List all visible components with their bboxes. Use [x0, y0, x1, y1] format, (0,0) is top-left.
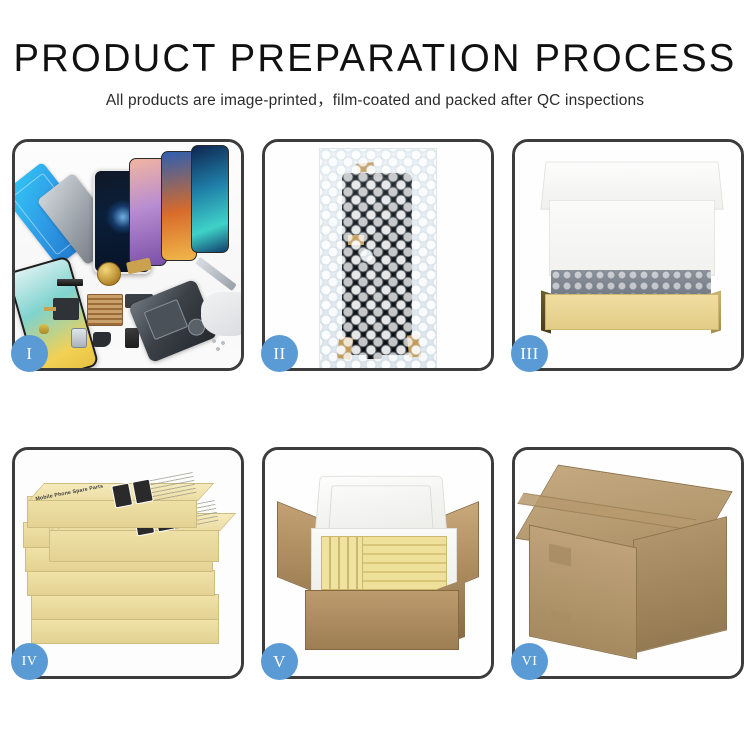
retail-box-printed-1	[27, 496, 197, 528]
screws-group	[211, 338, 233, 352]
inner-box-front	[545, 294, 719, 330]
speaker-module	[97, 262, 121, 286]
step-badge-5: V	[261, 643, 298, 680]
step-3-image	[515, 142, 741, 368]
step-1-image	[15, 142, 241, 368]
step-6-image	[515, 450, 741, 676]
box-thumb-image	[111, 482, 133, 508]
technician-hand	[201, 292, 241, 336]
small-part-a	[39, 324, 49, 334]
chip-array	[87, 294, 123, 326]
battery-module	[125, 328, 139, 348]
tweezers-icon	[195, 257, 237, 291]
page-subtitle: All products are image-printed，film-coat…	[0, 91, 750, 110]
flex-cable-a	[53, 298, 79, 320]
white-foam-sheet	[549, 200, 715, 276]
carton-front-face	[305, 590, 459, 650]
phone-display-teal	[191, 145, 229, 253]
earpiece-module	[93, 332, 111, 347]
carton-front-face	[529, 525, 637, 660]
process-step-6: VI	[512, 447, 744, 679]
connector-strip	[57, 279, 83, 286]
process-step-4: Mobile Phone Spare Parts Mobile Phone Sp…	[12, 447, 244, 679]
step-badge-4: IV	[11, 643, 48, 680]
packed-yellow-boxes-side	[321, 536, 363, 590]
step-badge-1: I	[11, 335, 48, 372]
camera-module	[71, 328, 87, 348]
retail-box-bottom-1	[31, 618, 219, 644]
header: PRODUCT PREPARATION PROCESS All products…	[0, 0, 750, 110]
process-step-5: V	[262, 447, 494, 679]
step-badge-2: II	[261, 335, 298, 372]
step-badge-6: VI	[511, 643, 548, 680]
step-5-image	[265, 450, 491, 676]
box-stack: Mobile Phone Spare Parts Mobile Phone Sp…	[23, 468, 239, 668]
bubble-texture	[320, 149, 436, 368]
page-title: PRODUCT PREPARATION PROCESS	[8, 38, 743, 80]
step-4-image: Mobile Phone Spare Parts Mobile Phone Sp…	[15, 450, 241, 676]
retail-box-bottom-3	[27, 570, 215, 596]
bubble-bag	[319, 148, 437, 368]
process-step-1: I	[12, 139, 244, 371]
step-2-image	[265, 142, 491, 368]
retail-box-bottom-2	[31, 594, 219, 620]
process-step-grid: I II	[12, 139, 738, 679]
process-step-2: II	[262, 139, 494, 371]
process-step-3: III	[512, 139, 744, 371]
step-badge-3: III	[511, 335, 548, 372]
product-preparation-infographic: PRODUCT PREPARATION PROCESS All products…	[0, 0, 750, 750]
carton-side-face	[633, 516, 727, 653]
retail-box-printed-2	[49, 526, 219, 562]
